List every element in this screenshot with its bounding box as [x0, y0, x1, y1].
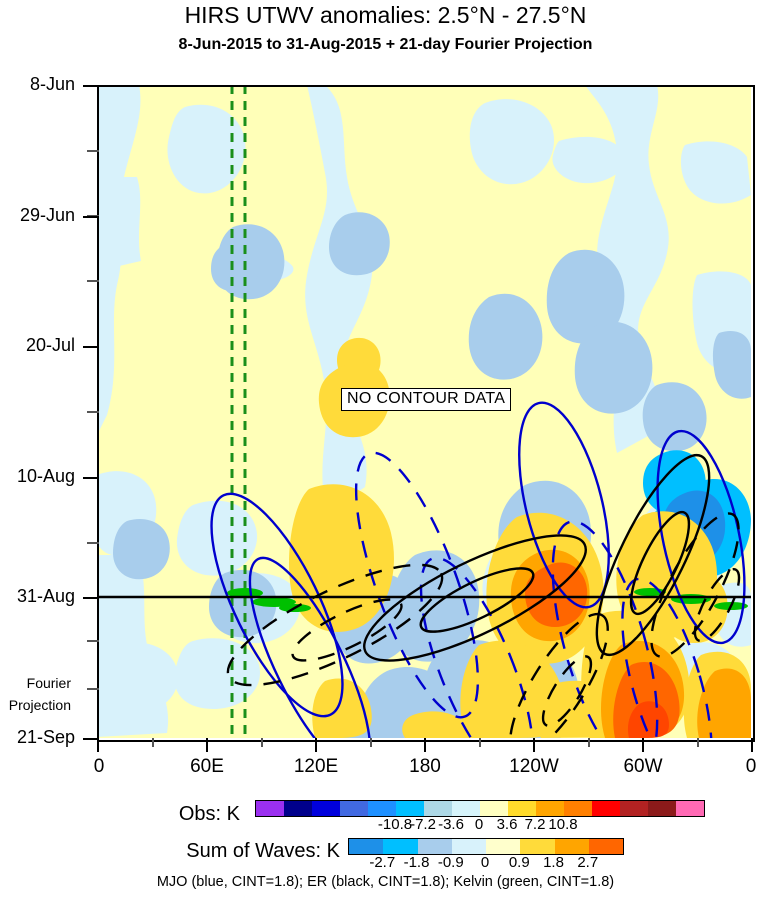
- x-axis-tick-minor: [697, 738, 699, 747]
- colorbar-segment: [486, 839, 520, 854]
- y-axis-label-2: 20-Jul: [26, 335, 75, 356]
- page-title: HIRS UTWV anomalies: 2.5°N - 27.5°N: [0, 2, 771, 29]
- y-axis-label-0: 8-Jun: [30, 74, 75, 95]
- colorbar-segment: [312, 801, 340, 816]
- waves-colorbar: [348, 838, 624, 855]
- plot-canvas: [97, 85, 751, 738]
- colorbar-tick-label: -1.8: [404, 854, 430, 871]
- colorbar-segment: [256, 801, 284, 816]
- colorbar-tick-label: 0: [475, 816, 483, 833]
- colorbar-tick-label: -3.6: [438, 816, 464, 833]
- x-axis-label-3: 180: [409, 756, 441, 778]
- y-axis-tick-minor: [87, 280, 99, 282]
- colorbar-tick-label: -0.9: [438, 854, 464, 871]
- colorbar-tick-label: 0.9: [509, 854, 530, 871]
- colorbar-tick-label: -10.8: [378, 816, 412, 833]
- y-axis-label-5: 21-Sep: [17, 727, 75, 748]
- y-axis-tick-major: [83, 346, 99, 348]
- colorbar-segment: [480, 801, 508, 816]
- x-axis-tick-minor: [588, 738, 590, 747]
- x-axis-tick-major: [642, 738, 644, 752]
- colorbar-tick-label: 0: [481, 854, 489, 871]
- y-axis-tick-minor: [87, 150, 99, 152]
- y-axis-label-4: 31-Aug: [17, 586, 75, 607]
- hovmoller-plot: NO CONTOUR DATA: [97, 85, 751, 738]
- colorbar-tick-label: 7.2: [525, 816, 546, 833]
- colorbar-segment: [520, 839, 554, 854]
- x-axis-tick-major: [424, 738, 426, 752]
- x-axis-tick-major: [533, 738, 535, 752]
- y-axis-label-3: 10-Aug: [17, 466, 75, 487]
- x-axis-label-0: 0: [94, 756, 105, 778]
- y-axis-tick-minor: [87, 688, 99, 690]
- colorbar-tick-label: 1.8: [543, 854, 564, 871]
- x-axis-tick-major: [206, 738, 208, 752]
- colorbar-segment: [508, 801, 536, 816]
- x-axis-tick-minor: [370, 738, 372, 747]
- page-subtitle: 8-Jun-2015 to 31-Aug-2015 + 21-day Fouri…: [0, 36, 771, 54]
- y-axis-tick-minor: [87, 640, 99, 642]
- colorbar-tick-label: 10.8: [548, 816, 577, 833]
- x-axis-tick-minor: [479, 738, 481, 747]
- y-axis-tick-major: [83, 477, 99, 479]
- colorbar-segment: [648, 801, 676, 816]
- obs-colorbar-label: Obs: K: [60, 803, 240, 826]
- x-axis-label-6: 0: [746, 756, 757, 778]
- colorbar-segment: [676, 801, 704, 816]
- colorbar-segment: [592, 801, 620, 816]
- x-axis-label-2: 120E: [294, 756, 338, 778]
- colorbar-tick-label: 3.6: [497, 816, 518, 833]
- colorbar-segment: [349, 839, 383, 854]
- colorbar-segment: [536, 801, 564, 816]
- fourier-projection-line1: Fourier: [27, 675, 71, 691]
- colorbar-segment: [418, 839, 452, 854]
- colorbar-segment: [620, 801, 648, 816]
- x-axis-label-1: 60E: [190, 756, 224, 778]
- x-axis-tick-major: [315, 738, 317, 752]
- y-axis-tick-major: [83, 216, 99, 218]
- contour-legend-footer: MJO (blue, CINT=1.8); ER (black, CINT=1.…: [0, 874, 771, 890]
- colorbar-segment: [368, 801, 396, 816]
- colorbar-segment: [396, 801, 424, 816]
- y-axis-tick-major: [83, 85, 99, 87]
- colorbar-tick-label: -7.2: [410, 816, 436, 833]
- x-axis-tick-major: [97, 738, 99, 752]
- colorbar-segment: [452, 839, 486, 854]
- y-axis-label-1: 29-Jun: [20, 205, 75, 226]
- colorbar-segment: [589, 839, 623, 854]
- colorbar-segment: [340, 801, 368, 816]
- colorbar-segment: [564, 801, 592, 816]
- x-axis-tick-major: [751, 738, 753, 752]
- x-axis-label-5: 60W: [623, 756, 662, 778]
- y-axis-tick-major: [83, 597, 99, 599]
- colorbar-tick-label: 2.7: [577, 854, 598, 871]
- waves-colorbar-label: Sum of Waves: K: [130, 840, 340, 863]
- no-contour-data-label: NO CONTOUR DATA: [341, 388, 511, 411]
- fourier-projection-line2: Projection: [9, 697, 71, 713]
- colorbar-segment: [555, 839, 589, 854]
- obs-colorbar: [255, 800, 705, 817]
- y-axis-tick-minor: [87, 542, 99, 544]
- x-axis-label-4: 120W: [509, 756, 559, 778]
- colorbar-segment: [383, 839, 417, 854]
- shading-upper-blue-extra: [595, 242, 662, 307]
- colorbar-segment: [452, 801, 480, 816]
- x-axis-tick-minor: [152, 738, 154, 747]
- y-axis-tick-minor: [87, 411, 99, 413]
- colorbar-tick-label: -2.7: [369, 854, 395, 871]
- x-axis-tick-minor: [261, 738, 263, 747]
- colorbar-segment: [424, 801, 452, 816]
- colorbar-segment: [284, 801, 312, 816]
